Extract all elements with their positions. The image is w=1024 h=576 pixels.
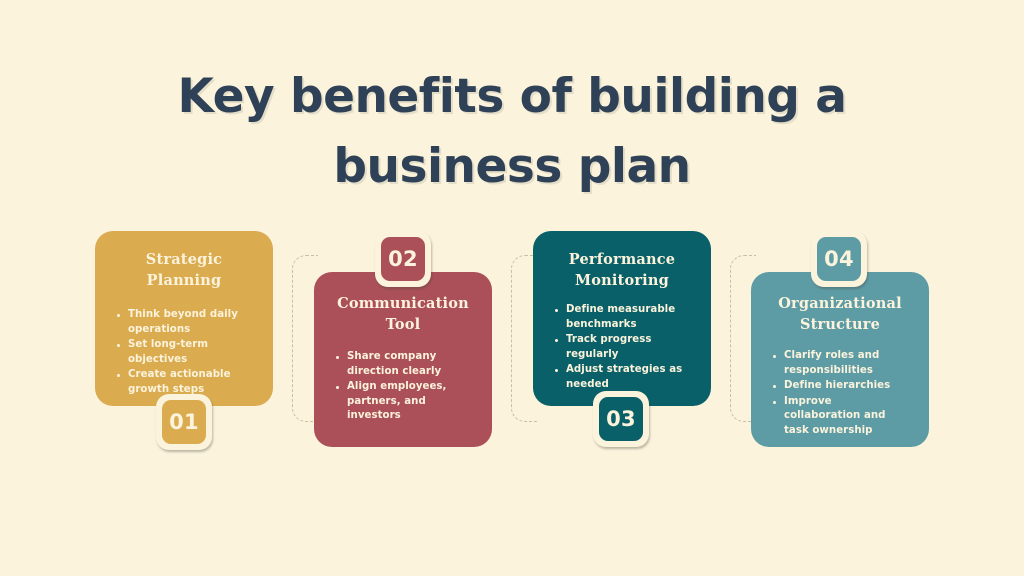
card-title: Communication Tool [334,294,472,335]
card-bullet-list: Clarify roles and responsibilities Defin… [771,349,909,439]
list-item: Align employees, partners, and investors [334,380,472,423]
list-item: Create actionable growth steps [115,368,253,397]
list-item: Improve collaboration and task ownership [771,395,909,438]
list-item: Define measurable benchmarks [553,303,691,332]
list-item: Adjust strategies as needed [553,363,691,392]
card-title: Organizational Structure [771,294,909,335]
card-bullet-list: Define measurable benchmarks Track progr… [553,303,691,393]
list-item: Clarify roles and responsibilities [771,349,909,378]
list-item: Set long-term objectives [115,338,253,367]
list-item: Think beyond daily operations [115,308,253,337]
card-bullet-list: Share company direction clearly Align em… [334,350,472,424]
card-performance-monitoring[interactable]: Performance Monitoring Define measurable… [533,231,711,406]
badge-number: 02 [381,237,425,281]
card-title: Performance Monitoring [553,250,691,291]
card-communication-tool[interactable]: Communication Tool Share company directi… [314,272,492,447]
list-item: Share company direction clearly [334,350,472,379]
badge-01[interactable]: 01 [156,394,212,450]
badge-number: 04 [817,237,861,281]
badge-number: 03 [599,397,643,441]
badge-number: 01 [162,400,206,444]
card-strategic-planning[interactable]: Strategic Planning Think beyond daily op… [95,231,273,406]
page-title: Key benefits of building a business plan [0,62,1024,201]
list-item: Define hierarchies [771,379,909,393]
card-title: Strategic Planning [115,250,253,291]
card-organizational-structure[interactable]: Organizational Structure Clarify roles a… [751,272,929,447]
badge-03[interactable]: 03 [593,391,649,447]
badge-04[interactable]: 04 [811,231,867,287]
list-item: Track progress regularly [553,333,691,362]
infographic-slide: { "page": { "title": "Key benefits of bu… [0,0,1024,576]
card-bullet-list: Think beyond daily operations Set long-t… [115,308,253,398]
badge-02[interactable]: 02 [375,231,431,287]
